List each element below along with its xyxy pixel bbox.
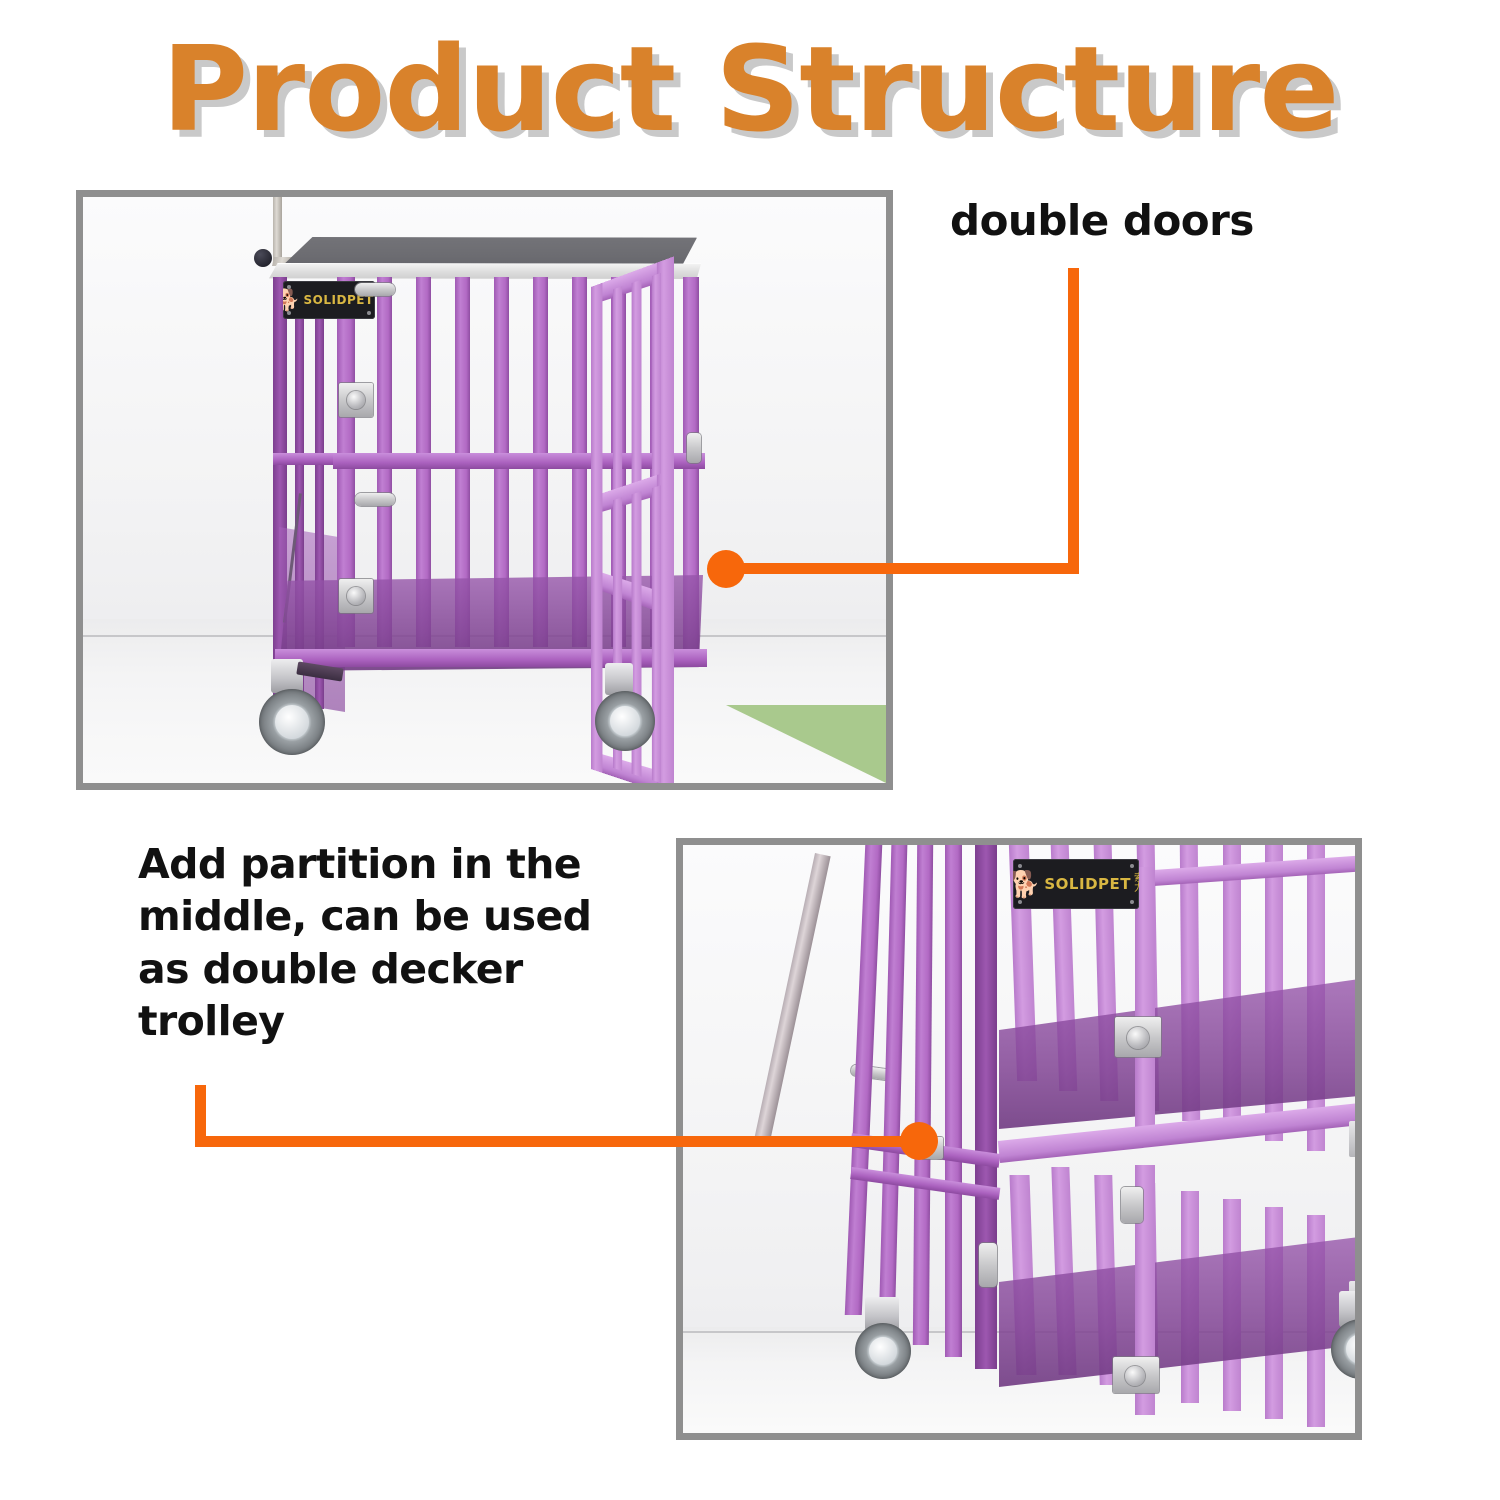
caster-hub: [275, 705, 309, 739]
connector-horizontal-double-doors: [726, 563, 1079, 574]
dog-logo-icon: 🐕: [1013, 871, 1040, 897]
lock-knob-icon[interactable]: [347, 587, 365, 605]
door-bar: [652, 485, 661, 783]
badge-screw: [1130, 864, 1134, 868]
door-hinge: [1349, 1121, 1361, 1157]
cage-bar: [416, 277, 431, 463]
badge-screw: [1018, 900, 1022, 904]
door-latch[interactable]: [1121, 1187, 1143, 1223]
caster-wheel: [259, 689, 325, 755]
caster-wheel: [595, 691, 655, 751]
brand-name: SOLIDPET: [1044, 877, 1131, 892]
door-lock[interactable]: [1115, 1017, 1161, 1057]
brand-name-cn: 索力: [1134, 874, 1139, 894]
connector-horizontal-partition: [195, 1136, 925, 1147]
cage-bar: [377, 277, 392, 463]
cage-vertical-corner: [975, 845, 997, 1369]
door-latch[interactable]: [355, 283, 395, 296]
connector-dot-double-doors: [707, 550, 745, 588]
lock-knob-icon[interactable]: [1127, 1027, 1149, 1049]
green-floor-accent: [726, 705, 886, 783]
side-latch[interactable]: [979, 1243, 997, 1287]
caster-hub: [610, 706, 640, 736]
product-photo-double-doors: 🐕 SOLIDPET 索力: [76, 190, 893, 790]
badge-screw: [1130, 900, 1134, 904]
infographic-page: Product Structure: [0, 0, 1500, 1500]
caster-wheel: [855, 1323, 911, 1379]
support-pole: [273, 197, 282, 265]
annotation-label-double-doors: double doors: [950, 196, 1254, 245]
lock-knob-icon[interactable]: [1125, 1366, 1145, 1386]
badge-screw: [367, 311, 371, 315]
connector-vertical-double-doors: [1068, 268, 1079, 570]
brand-badge: 🐕 SOLIDPET 索力: [1013, 859, 1139, 909]
badge-screw: [287, 285, 291, 289]
caster-hub: [1346, 1334, 1362, 1364]
cage-side-mid-rail: [273, 453, 333, 465]
door-lock[interactable]: [1113, 1357, 1159, 1393]
photo-stage-top: 🐕 SOLIDPET 索力: [83, 197, 886, 783]
cage-bar: [572, 277, 587, 463]
door-latch[interactable]: [355, 493, 395, 506]
locking-knob[interactable]: [254, 249, 272, 267]
door-lock[interactable]: [339, 579, 373, 613]
cage-side-bar: [945, 845, 962, 1357]
upper-door-stile: [1135, 867, 1155, 1143]
annotation-label-partition: Add partition in the middle, can be used…: [138, 838, 648, 1048]
lock-knob-icon[interactable]: [347, 391, 365, 409]
badge-screw: [287, 311, 291, 315]
cage-bar: [533, 277, 548, 463]
cage-bar: [494, 277, 509, 463]
connector-dot-partition: [900, 1122, 938, 1160]
cage-bar: [455, 277, 470, 463]
dog-logo-icon: 🐕: [283, 290, 301, 311]
side-latch[interactable]: [687, 433, 701, 463]
door-lock[interactable]: [339, 383, 373, 417]
caster-bracket: [605, 663, 633, 695]
page-title: Product Structure: [0, 28, 1500, 152]
badge-screw: [1018, 864, 1022, 868]
caster-hub: [869, 1337, 897, 1365]
